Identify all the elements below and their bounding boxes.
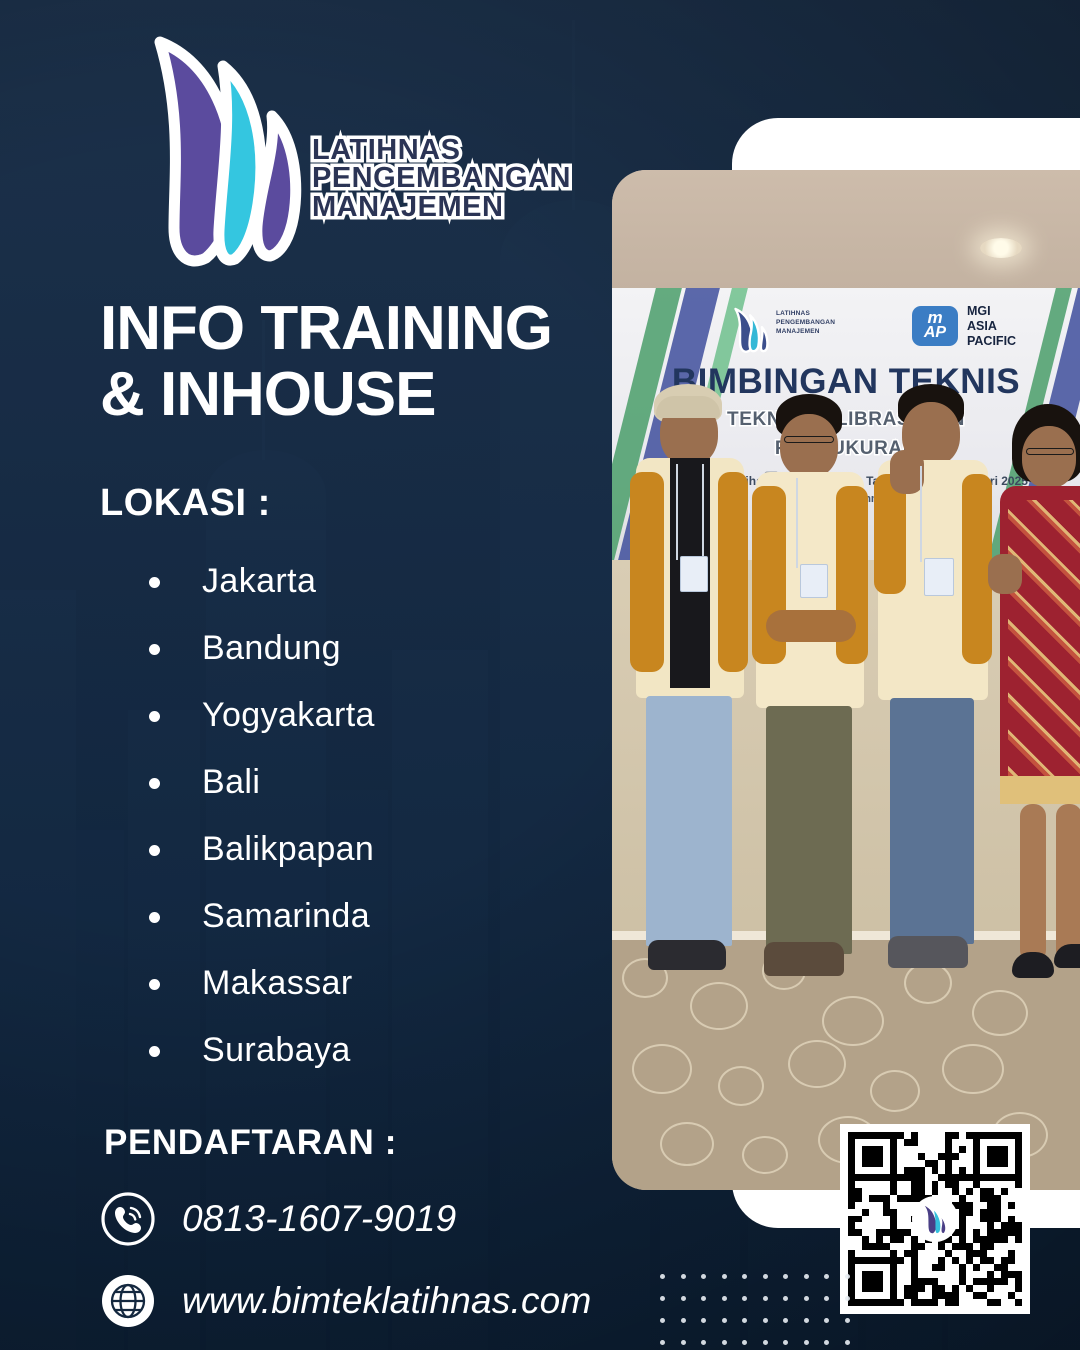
list-item: Bali xyxy=(140,749,610,816)
banner-org-line-2: PENGEMBANGAN xyxy=(776,319,835,326)
banner-org-text: LATIHNAS PENGEMBANGAN MANAJEMEN xyxy=(776,310,835,336)
phone-call-icon xyxy=(100,1191,156,1247)
mgi-text: MGI ASIA PACIFIC xyxy=(967,304,1016,348)
event-photo: LATIHNAS PENGEMBANGAN MANAJEMEN m AP MGI… xyxy=(612,170,1080,1190)
latihnas-flame-icon xyxy=(140,28,320,273)
mgi-monogram-bottom: AP xyxy=(912,324,958,342)
list-item: Yogyakarta xyxy=(140,682,610,749)
mgi-monogram-icon: m AP xyxy=(912,306,958,346)
locations-list: Jakarta Bandung Yogyakarta Bali Balikpap… xyxy=(140,548,610,1084)
contact-block: 0813-1607-9019 www.bimteklatihnas.com xyxy=(100,1185,660,1335)
contact-website-row[interactable]: www.bimteklatihnas.com xyxy=(100,1267,660,1335)
decorative-dot-grid xyxy=(660,1274,865,1350)
registration-label: PENDAFTARAN : xyxy=(104,1123,397,1163)
contact-phone-row[interactable]: 0813-1607-9019 xyxy=(100,1185,660,1253)
banner-org-logo: LATIHNAS PENGEMBANGAN MANAJEMEN xyxy=(730,304,848,356)
headline-line-2: & INHOUSE xyxy=(100,362,660,428)
person-4 xyxy=(998,404,1080,1004)
page-title: INFO TRAINING & INHOUSE xyxy=(100,296,660,427)
list-item: Samarinda xyxy=(140,883,610,950)
photo-ceiling xyxy=(612,170,1080,290)
list-item: Surabaya xyxy=(140,1017,610,1084)
qr-center-logo xyxy=(912,1196,958,1242)
person-3 xyxy=(874,384,994,1004)
list-item: Balikpapan xyxy=(140,816,610,883)
headline-line-1: INFO TRAINING xyxy=(100,296,660,362)
qr-code[interactable] xyxy=(840,1124,1030,1314)
list-item: Bandung xyxy=(140,615,610,682)
mgi-line-3: PACIFIC xyxy=(967,334,1016,348)
mgi-line-1: MGI xyxy=(967,304,991,318)
locations-label: LOKASI : xyxy=(100,482,271,525)
list-item: Jakarta xyxy=(140,548,610,615)
banner-partner-logo: m AP MGI ASIA PACIFIC xyxy=(912,304,1016,348)
person-2 xyxy=(752,394,870,1004)
ceiling-light xyxy=(980,238,1022,258)
brand-logo: LATIHNAS PENGEMBANGAN MANAJEMEN xyxy=(140,28,560,268)
mgi-line-2: ASIA xyxy=(967,319,997,333)
brand-logo-text: LATIHNAS PENGEMBANGAN MANAJEMEN xyxy=(312,136,642,221)
website-url: www.bimteklatihnas.com xyxy=(182,1280,592,1322)
logo-line-2: PENGEMBANGAN xyxy=(312,164,642,192)
phone-number: 0813-1607-9019 xyxy=(182,1198,456,1240)
globe-icon xyxy=(100,1273,156,1329)
poster: LATIHNAS PENGEMBANGAN MANAJEMEN INFO TRA… xyxy=(0,0,1080,1350)
list-item: Makassar xyxy=(140,950,610,1017)
person-1 xyxy=(630,384,750,1004)
banner-org-line-1: LATIHNAS xyxy=(776,310,810,317)
logo-line-3: MANAJEMEN xyxy=(312,193,642,221)
logo-line-1: LATIHNAS xyxy=(312,136,642,164)
banner-org-line-3: MANAJEMEN xyxy=(776,328,820,335)
